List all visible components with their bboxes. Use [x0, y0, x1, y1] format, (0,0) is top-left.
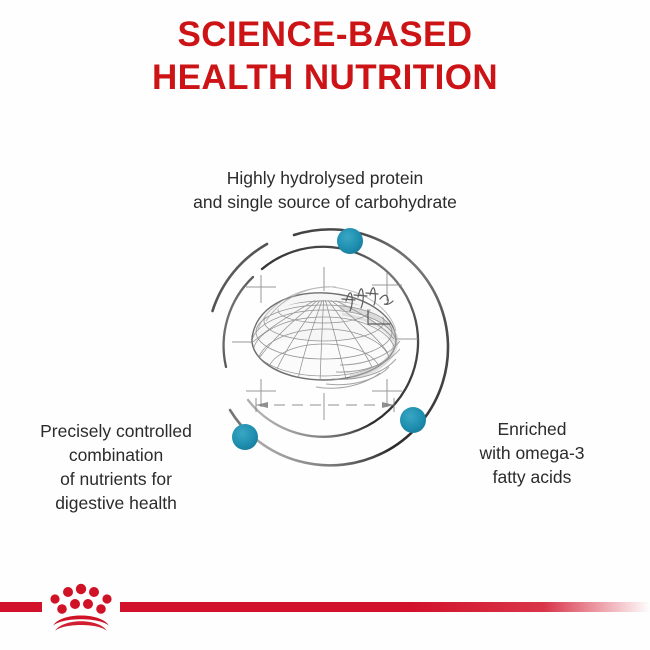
kibble-body [252, 287, 400, 400]
brand-footer [0, 582, 650, 650]
callout-top-line-2: and single source of carbohydrate [0, 190, 650, 214]
callout-left-line-4: digestive health [0, 491, 232, 515]
royal-canin-crown-logo [50, 584, 111, 631]
footer-bar-left [0, 602, 42, 612]
page-title: SCIENCE-BASED HEALTH NUTRITION [0, 14, 650, 99]
callout-right-line-2: with omega-3 [432, 441, 632, 465]
page-title-line-2: HEALTH NUTRITION [0, 57, 650, 100]
omega-3-node[interactable] [400, 407, 426, 433]
callout-hydrolysed-protein: Highly hydrolysed protein and single sou… [0, 166, 650, 214]
callout-omega-3: Enriched with omega-3 fatty acids [432, 417, 632, 489]
callout-right-line-3: fatty acids [432, 465, 632, 489]
digestive-health-node[interactable] [232, 424, 258, 450]
dimension-line [256, 398, 394, 412]
product-feature-panel: SCIENCE-BASED HEALTH NUTRITION Highly hy… [0, 0, 650, 650]
callout-top-line-1: Highly hydrolysed protein [0, 166, 650, 190]
callout-right-line-1: Enriched [432, 417, 632, 441]
kibble-technical-sketch [232, 267, 418, 420]
footer-bar-right [120, 602, 650, 612]
kibble-orbit-diagram [190, 215, 460, 485]
hydrolysed-protein-node[interactable] [337, 228, 363, 254]
page-title-line-1: SCIENCE-BASED [0, 14, 650, 57]
